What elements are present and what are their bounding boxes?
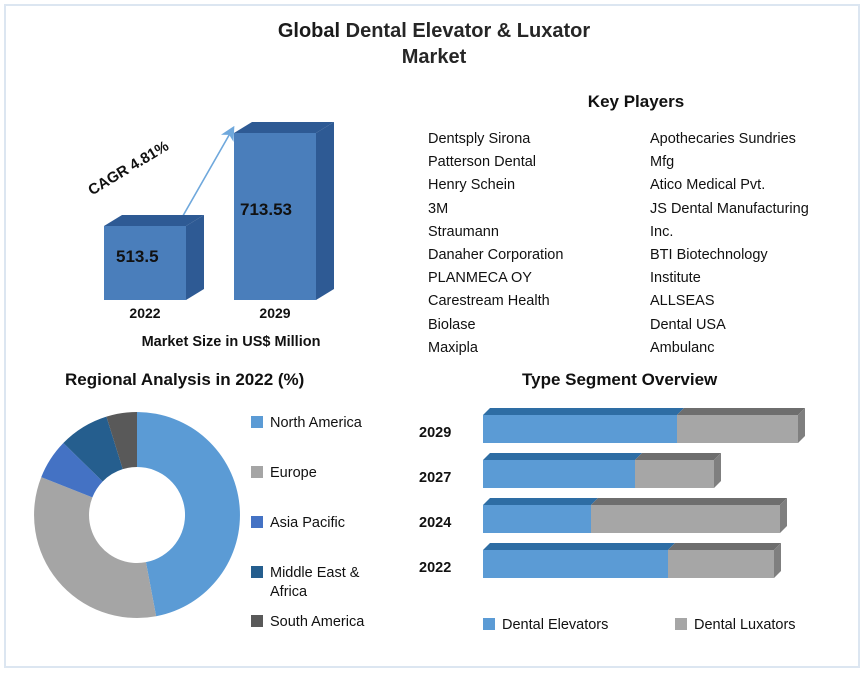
column-value-2022: 513.5 [116, 247, 159, 267]
key-player-item: Patterson Dental [428, 151, 643, 174]
donut-slice-europe [34, 477, 156, 618]
key-player-item: Dentsply Sirona [428, 128, 643, 151]
key-player-item: Ambulanc [650, 337, 860, 360]
legend-swatch-icon [675, 618, 687, 630]
legend-swatch-icon [251, 615, 263, 627]
column-bar-2022: 513.5 [104, 215, 204, 300]
key-players-heading: Key Players [416, 92, 856, 112]
key-player-item: Mfg [650, 151, 860, 174]
column-axis-label: Market Size in US$ Million [66, 334, 396, 350]
donut-legend-item-asia-pacific: Asia Pacific [251, 514, 345, 533]
type-segment-legend-item-elevators: Dental Elevators [483, 617, 608, 633]
donut-legend-label: Asia Pacific [270, 515, 345, 531]
key-player-item: Dental USA [650, 314, 860, 337]
key-player-item: ALLSEAS [650, 290, 860, 313]
key-player-item: Inc. [650, 221, 860, 244]
page-title-lead: Global [278, 20, 346, 42]
type-segment-section: Type Segment Overview 2029 2027 [412, 370, 856, 650]
type-segment-legend-label: Dental Luxators [694, 617, 796, 633]
legend-swatch-icon [251, 566, 263, 578]
type-segment-category-2024: 2024 [419, 515, 451, 531]
donut-legend-label: Europe [270, 465, 317, 481]
regional-donut-chart [26, 404, 248, 626]
donut-legend-item-middle-east-africa: Middle East & Africa [251, 564, 401, 602]
key-player-item: Institute [650, 267, 860, 290]
donut-legend-label: South America [270, 614, 364, 630]
page-title-rest: Dental Elevator & Luxator [346, 20, 591, 42]
key-player-item: Maxipla [428, 337, 643, 360]
key-player-item: BTI Biotechnology [650, 244, 860, 267]
key-player-item: Apothecaries Sundries [650, 128, 860, 151]
page-title: Global Dental Elevator & Luxator Market [6, 18, 862, 70]
donut-legend-label-cont: Africa [270, 583, 401, 602]
legend-swatch-icon [251, 466, 263, 478]
key-players-column-right: Apothecaries Sundries Mfg Atico Medical … [650, 128, 860, 360]
key-players-section: Key Players Dentsply Sirona Patterson De… [416, 92, 856, 367]
donut-legend-item-south-america: South America [251, 613, 364, 632]
column-value-2029: 713.53 [240, 200, 292, 220]
regional-analysis-heading: Regional Analysis in 2022 (%) [65, 370, 304, 390]
key-player-item: Henry Schein [428, 174, 643, 197]
infographic-frame: Global Dental Elevator & Luxator Market … [4, 4, 860, 668]
type-segment-heading: Type Segment Overview [522, 370, 717, 390]
key-player-item: 3M [428, 198, 643, 221]
type-segment-legend-item-luxators: Dental Luxators [675, 617, 796, 633]
donut-slice-north-america [137, 412, 240, 616]
key-player-item: PLANMECA OY [428, 267, 643, 290]
column-category-2022: 2022 [104, 305, 186, 321]
key-player-item: Straumann [428, 221, 643, 244]
type-segment-category-2029: 2029 [419, 425, 451, 441]
key-players-column-left: Dentsply Sirona Patterson Dental Henry S… [428, 128, 643, 360]
donut-legend-item-europe: Europe [251, 464, 317, 483]
key-player-item: Biolase [428, 314, 643, 337]
key-player-item: Carestream Health [428, 290, 643, 313]
donut-legend-label: North America [270, 415, 362, 431]
legend-swatch-icon [483, 618, 495, 630]
type-segment-category-2022: 2022 [419, 560, 451, 576]
column-category-2029: 2029 [234, 305, 316, 321]
key-player-item: Atico Medical Pvt. [650, 174, 860, 197]
legend-swatch-icon [251, 516, 263, 528]
market-size-column-chart: CAGR 4.81% 513.5 713.53 2022 2029 Market… [66, 102, 396, 367]
type-segment-category-2027: 2027 [419, 470, 451, 486]
regional-analysis-section: Regional Analysis in 2022 (%) North [24, 370, 414, 650]
legend-swatch-icon [251, 416, 263, 428]
type-segment-legend-label: Dental Elevators [502, 617, 608, 633]
key-player-item: Danaher Corporation [428, 244, 643, 267]
column-bar-2029: 713.53 [234, 122, 334, 300]
key-player-item: JS Dental Manufacturing [650, 198, 860, 221]
donut-legend-item-north-america: North America [251, 414, 362, 433]
page-title-line2: Market [402, 46, 466, 68]
donut-legend-label: Middle East & [270, 565, 359, 581]
